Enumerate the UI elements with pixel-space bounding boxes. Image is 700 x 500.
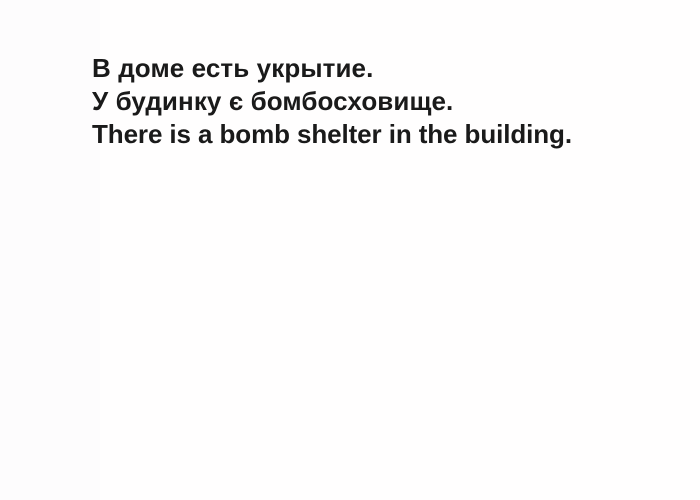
sign-canvas: В доме есть укрытие. У будинку є бомбосх… (0, 0, 700, 500)
notice-line-ukrainian: У будинку є бомбосховище. (92, 85, 672, 118)
notice-line-russian: В доме есть укрытие. (92, 52, 672, 85)
notice-text-block: В доме есть укрытие. У будинку є бомбосх… (92, 52, 672, 151)
notice-line-english: There is a bomb shelter in the building. (92, 118, 672, 151)
background-panel-left (0, 0, 100, 500)
